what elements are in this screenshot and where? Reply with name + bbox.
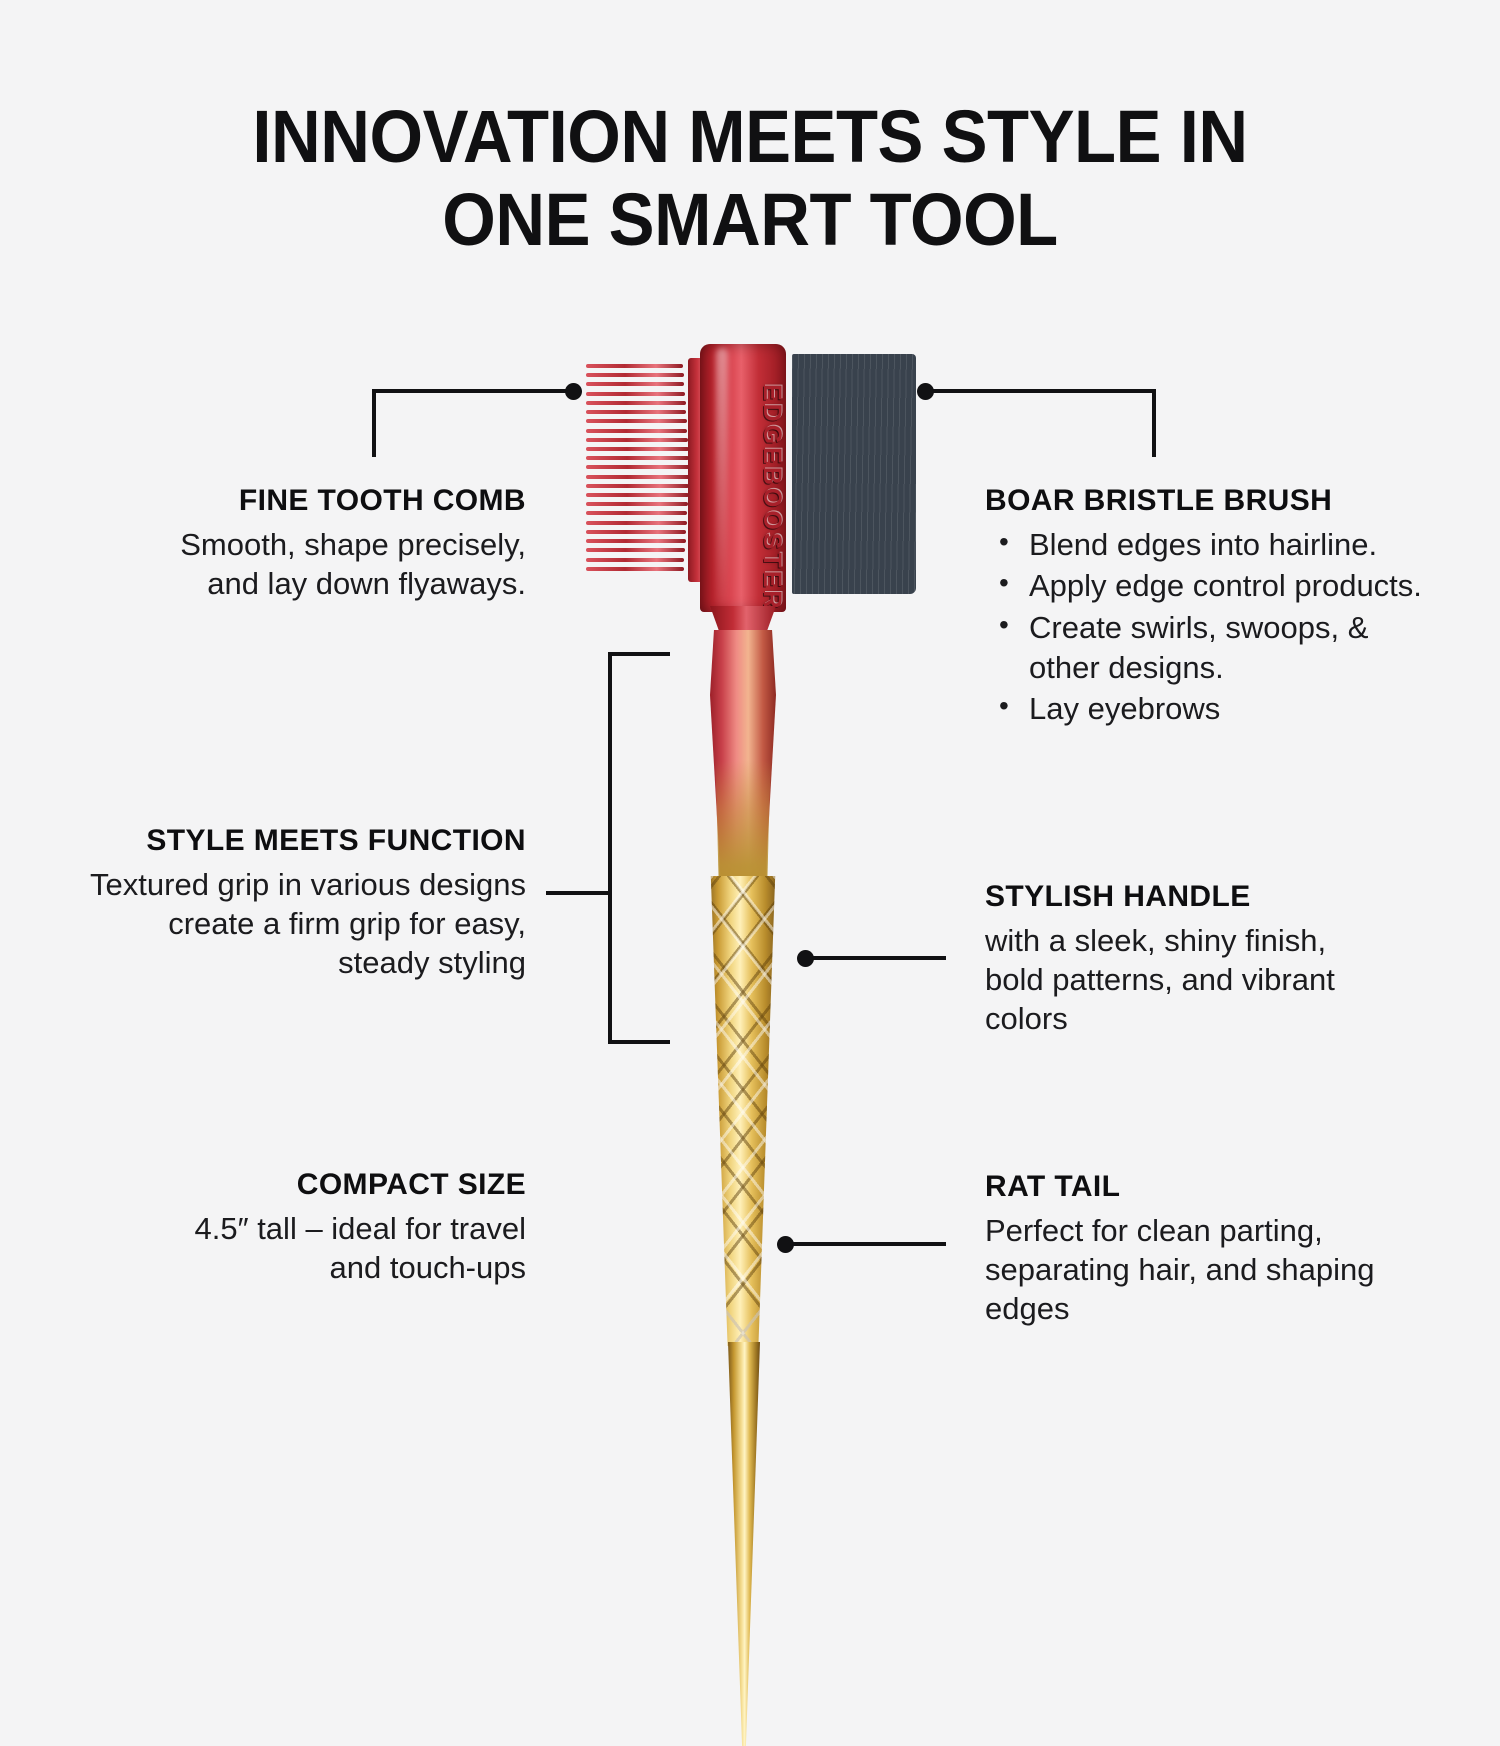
comb-tooth	[586, 465, 690, 469]
callout-title-rat-tail: RAT TAIL	[985, 1170, 1385, 1205]
boar-bristle-brush-head	[792, 354, 916, 594]
leader-line-fine-tooth-comb-horizontal	[372, 389, 577, 393]
grip-lattice-pattern	[708, 876, 778, 1346]
callout-bullet-item: Lay eyebrows	[985, 689, 1425, 729]
infographic-canvas: INNOVATION MEETS STYLE IN ONE SMART TOOL…	[0, 0, 1500, 1500]
headline-line-2: ONE SMART TOOL	[53, 179, 1448, 262]
leader-line-fine-tooth-comb-vertical	[372, 389, 376, 457]
textured-grip	[708, 876, 778, 1346]
comb-tooth	[586, 364, 683, 368]
leader-line-boar-bristle-vertical	[1152, 389, 1156, 457]
callout-body-fine-tooth-comb: Smooth, shape precisely, and lay down fl…	[150, 525, 526, 604]
callout-body-compact-size: 4.5″ tall – ideal for travel and touch-u…	[170, 1209, 526, 1288]
comb-tooth	[586, 447, 689, 451]
callout-boar-bristle-brush: BOAR BRISTLE BRUSH Blend edges into hair…	[985, 484, 1425, 731]
comb-tooth	[586, 419, 687, 423]
comb-tooth	[586, 382, 684, 386]
callout-rat-tail: RAT TAIL Perfect for clean parting, sepa…	[985, 1170, 1385, 1329]
comb-tooth	[586, 475, 690, 479]
callout-bullet-item: Apply edge control products.	[985, 566, 1425, 606]
brush-head-plate: EDGEBOOSTER	[700, 344, 786, 612]
callout-title-compact-size: COMPACT SIZE	[170, 1168, 526, 1203]
callout-bullet-list-boar-bristle-brush: Blend edges into hairline.Apply edge con…	[985, 525, 1425, 729]
comb-tooth	[586, 502, 688, 506]
callout-title-boar-bristle-brush: BOAR BRISTLE BRUSH	[985, 484, 1425, 519]
callout-title-stylish-handle: STYLISH HANDLE	[985, 880, 1385, 915]
comb-tooth	[586, 429, 687, 433]
comb-tooth	[586, 558, 684, 562]
comb-tooth	[586, 521, 687, 525]
callout-bullet-item: Create swirls, swoops, & other designs.	[985, 608, 1425, 687]
brand-logo-text: EDGEBOOSTER	[700, 384, 786, 574]
callout-title-fine-tooth-comb: FINE TOOTH COMB	[150, 484, 526, 519]
comb-tooth	[586, 511, 687, 515]
callout-bullet-item: Blend edges into hairline.	[985, 525, 1425, 565]
comb-tooth	[586, 539, 686, 543]
comb-tooth	[586, 530, 686, 534]
callout-stylish-handle: STYLISH HANDLE with a sleek, shiny finis…	[985, 880, 1385, 1039]
fine-tooth-comb-teeth	[586, 364, 696, 576]
callout-style-meets-function: STYLE MEETS FUNCTION Textured grip in va…	[86, 824, 526, 983]
comb-tooth	[586, 410, 686, 414]
comb-tooth	[586, 438, 688, 442]
callout-title-style-meets-function: STYLE MEETS FUNCTION	[86, 824, 526, 859]
page-title: INNOVATION MEETS STYLE IN ONE SMART TOOL	[53, 96, 1448, 262]
callout-body-stylish-handle: with a sleek, shiny finish, bold pattern…	[985, 921, 1385, 1039]
comb-tooth	[586, 392, 685, 396]
product-image-edgebooster-brush: EDGEBOOSTER	[560, 330, 940, 1420]
comb-tooth	[586, 493, 689, 497]
comb-tooth	[586, 401, 686, 405]
comb-tooth	[586, 567, 684, 571]
comb-tooth	[586, 484, 689, 488]
headline-line-1: INNOVATION MEETS STYLE IN	[53, 96, 1448, 179]
leader-line-boar-bristle-horizontal	[930, 389, 1156, 393]
rat-tail-point	[728, 1342, 760, 1746]
comb-tooth	[586, 456, 689, 460]
callout-body-style-meets-function: Textured grip in various designs create …	[86, 865, 526, 983]
comb-tooth	[586, 548, 685, 552]
comb-tooth	[586, 373, 684, 377]
callout-compact-size: COMPACT SIZE 4.5″ tall – ideal for trave…	[170, 1168, 526, 1287]
callout-fine-tooth-comb: FINE TOOTH COMB Smooth, shape precisely,…	[150, 484, 526, 603]
callout-body-rat-tail: Perfect for clean parting, separating ha…	[985, 1211, 1385, 1329]
